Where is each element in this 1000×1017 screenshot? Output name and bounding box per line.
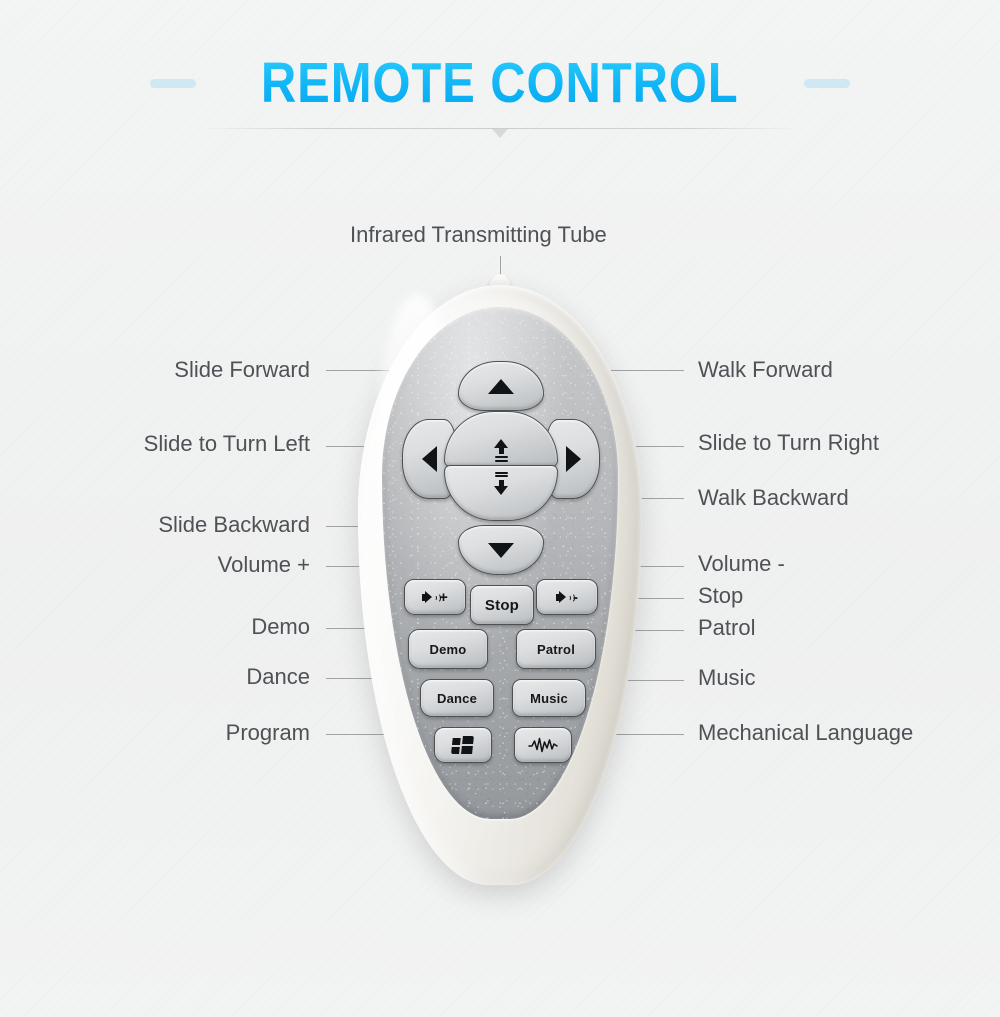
dance-button-label: Dance [437,691,477,706]
callout-volume-up: Volume + [70,554,310,576]
stop-button-label: Stop [485,597,519,614]
divider-caret-icon [492,129,508,138]
mechanical-language-button[interactable] [514,727,572,763]
triangle-up-icon [488,379,514,394]
callout-slide-to-turn-right: Slide to Turn Right [698,432,879,454]
title-dash-right [804,79,850,88]
callout-music: Music [698,667,755,689]
demo-button[interactable]: Demo [408,629,488,669]
speaker-icon [422,591,435,604]
callout-volume-down: Volume - [698,553,785,575]
music-button-label: Music [530,691,568,706]
patrol-button-label: Patrol [537,642,575,657]
callout-walk-backward: Walk Backward [698,487,849,509]
remote-faceplate: + - Stop Demo Patrol [382,307,618,819]
page-title: REMOTE CONTROL [261,48,739,118]
callout-slide-forward: Slide Forward [60,359,310,381]
callout-mechanical-language: Mechanical Language [698,722,913,744]
volume-up-button[interactable]: + [404,579,466,615]
page-root: REMOTE CONTROL Infrared Transmitting Tub… [0,0,1000,1017]
demo-button-label: Demo [430,642,467,657]
volume-down-button[interactable]: - [536,579,598,615]
remote-control-device: + - Stop Demo Patrol [358,285,642,885]
arrow-down-steps-icon [494,470,508,495]
speaker-icon [556,591,569,604]
callout-dance: Dance [100,666,310,688]
dance-button[interactable]: Dance [420,679,494,717]
title-dash-left [150,79,196,88]
triangle-down-icon [488,543,514,558]
callout-slide-backward: Slide Backward [40,514,310,536]
music-button[interactable]: Music [512,679,586,717]
triangle-right-icon [566,446,581,472]
stop-button[interactable]: Stop [470,585,534,625]
waveform-icon [528,737,558,753]
callout-infrared-transmitting-tube: Infrared Transmitting Tube [350,224,607,246]
callout-walk-forward: Walk Forward [698,359,833,381]
callout-stop: Stop [698,585,743,607]
program-button[interactable] [434,727,492,763]
patrol-button[interactable]: Patrol [516,629,596,669]
callout-patrol: Patrol [698,617,755,639]
arrow-up-steps-icon [494,439,508,462]
callout-slide-to-turn-left: Slide to Turn Left [20,433,310,455]
callout-demo: Demo [100,616,310,638]
page-header: REMOTE CONTROL [0,48,1000,118]
triangle-left-icon [422,446,437,472]
callout-program: Program [80,722,310,744]
windows-flag-icon [451,736,475,754]
